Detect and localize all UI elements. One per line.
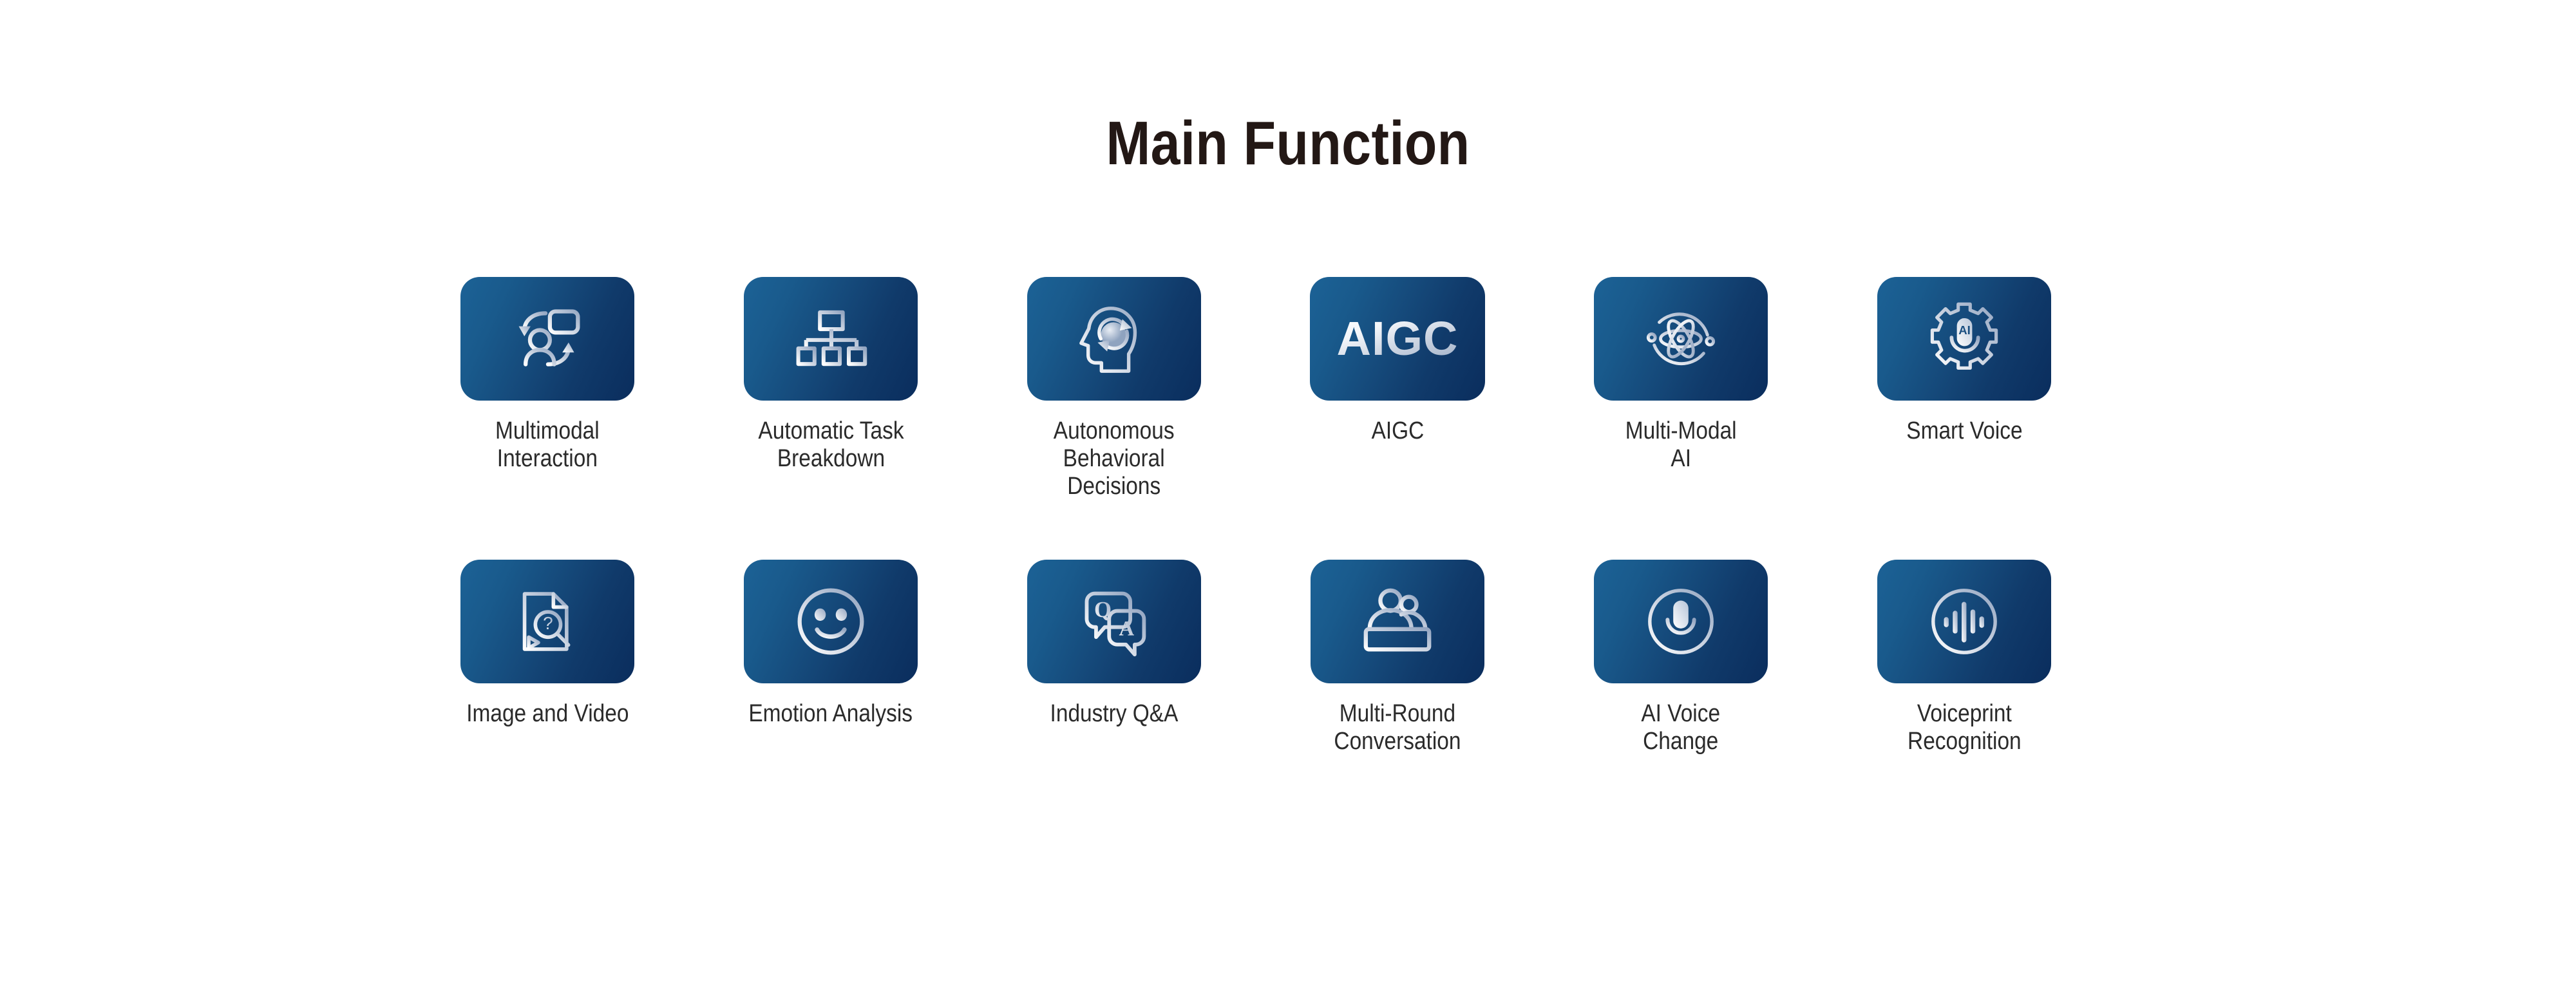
feature-card-ai-voice-change[interactable]: AI Voice Change: [1539, 560, 1823, 755]
hierarchy-icon: [795, 303, 867, 375]
svg-text:A: A: [1119, 617, 1134, 640]
feature-card-multi-modal-ai[interactable]: Multi-Modal AI: [1539, 277, 1823, 500]
feature-tile[interactable]: [1594, 277, 1768, 401]
feature-label: Autonomous Behavioral Decisions: [1054, 417, 1175, 500]
head-refresh-icon: [1076, 301, 1152, 377]
svg-text:Q: Q: [1094, 597, 1112, 622]
feature-tile[interactable]: ?: [460, 560, 634, 683]
feature-row-1: Multimodal Interaction: [406, 277, 2170, 500]
feature-card-industry-qa[interactable]: Q A Industry Q&A: [972, 560, 1256, 755]
document-search-play-icon: ?: [511, 585, 583, 658]
feature-label: Emotion Analysis: [749, 700, 913, 728]
feature-tile[interactable]: [1311, 560, 1484, 683]
feature-card-smart-voice[interactable]: AI Smart Voice: [1823, 277, 2106, 500]
feature-tile[interactable]: [1877, 560, 2051, 683]
feature-tile[interactable]: AIGC: [1310, 277, 1485, 401]
gear-microphone-ai-icon: AI: [1924, 299, 2004, 379]
feature-label: Voiceprint Recognition: [1908, 700, 2022, 755]
qa-speech-bubbles-icon: Q A: [1077, 584, 1151, 659]
feature-card-multi-round-conversation[interactable]: Multi-Round Conversation: [1256, 560, 1539, 755]
feature-label: Multimodal Interaction: [495, 417, 600, 473]
feature-card-emotion-analysis[interactable]: Emotion Analysis: [689, 560, 972, 755]
feature-tile[interactable]: [1027, 277, 1201, 401]
multimodal-interaction-icon: [510, 301, 585, 376]
feature-label: Automatic Task Breakdown: [758, 417, 904, 473]
feature-label: Image and Video: [466, 700, 629, 728]
feature-tile[interactable]: Q A: [1027, 560, 1201, 683]
feature-tile[interactable]: [1594, 560, 1768, 683]
feature-label: Industry Q&A: [1050, 700, 1179, 728]
feature-label: AIGC: [1371, 417, 1424, 445]
svg-text:AI: AI: [1958, 323, 1971, 337]
feature-tile[interactable]: [460, 277, 634, 401]
smiley-face-icon: [793, 584, 868, 659]
atom-icon: [1643, 301, 1719, 377]
feature-card-autonomous-behavioral-decisions[interactable]: Autonomous Behavioral Decisions: [972, 277, 1256, 500]
feature-label: Smart Voice: [1906, 417, 2022, 445]
main-function-page: Main Function: [0, 0, 2576, 1006]
feature-card-aigc[interactable]: AIGC AIGC: [1256, 277, 1539, 500]
feature-label: AI Voice Change: [1642, 700, 1721, 755]
page-title: Main Function: [180, 108, 2396, 179]
svg-text:?: ?: [543, 613, 553, 633]
feature-row-2: ? Image and Video: [406, 560, 2170, 755]
feature-card-image-and-video[interactable]: ? Image and Video: [406, 560, 689, 755]
feature-grid: Multimodal Interaction: [406, 277, 2170, 755]
feature-tile[interactable]: [744, 560, 918, 683]
feature-label: Multi-Round Conversation: [1334, 700, 1461, 755]
feature-label: Multi-Modal AI: [1625, 417, 1737, 473]
feature-card-automatic-task-breakdown[interactable]: Automatic Task Breakdown: [689, 277, 972, 500]
feature-card-voiceprint-recognition[interactable]: Voiceprint Recognition: [1823, 560, 2106, 755]
feature-card-multimodal-interaction[interactable]: Multimodal Interaction: [406, 277, 689, 500]
waveform-circle-icon: [1926, 584, 2002, 660]
aigc-wordmark-icon: AIGC: [1337, 315, 1459, 363]
feature-tile[interactable]: [744, 277, 918, 401]
people-desk-icon: [1359, 584, 1435, 660]
feature-tile[interactable]: AI: [1877, 277, 2051, 401]
microphone-circle-icon: [1643, 584, 1719, 660]
